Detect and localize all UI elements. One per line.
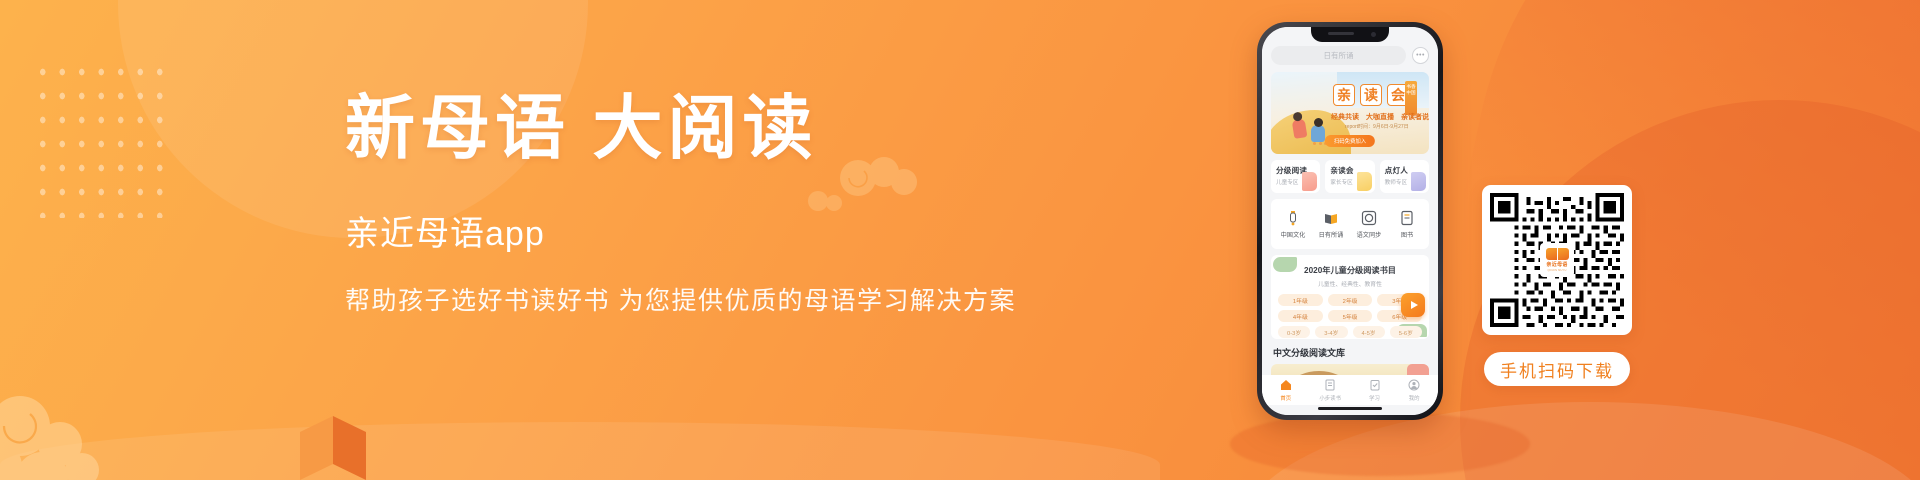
booklist-card[interactable]: 2020年儿童分级阅读书目 儿童性、经典性、教育性 1年级 2年级 3年级 4年… xyxy=(1271,255,1429,339)
circle-sync-icon xyxy=(1361,210,1377,226)
tab-label: 我的 xyxy=(1409,394,1420,402)
ellipsis-icon[interactable]: ••• xyxy=(1412,47,1429,64)
page-title: 新母语 大阅读 xyxy=(345,92,1045,168)
phone-mockup: 日有所诵 ••• 亲 读 会 书香中国 经典共读 xyxy=(1257,22,1443,420)
search-row: 日有所诵 ••• xyxy=(1271,46,1429,65)
tab-mine[interactable]: 我的 xyxy=(1408,379,1420,402)
quick-entry-chinese-culture[interactable]: 中国文化 xyxy=(1275,210,1311,239)
hero-title-char: 读 xyxy=(1360,84,1382,106)
decor-cloud-swirl-icon xyxy=(0,392,118,480)
quick-entry-label: 语文同步 xyxy=(1357,230,1382,239)
qr-center-logo: 亲近母语 QINJIN MUYU xyxy=(1540,243,1574,277)
qr-download-block: 亲近母语 QINJIN MUYU 手机扫码下载 xyxy=(1482,185,1632,386)
qr-code-card[interactable]: 亲近母语 QINJIN MUYU xyxy=(1482,185,1632,335)
logo-book-shape xyxy=(1546,248,1569,260)
decor-hill-left xyxy=(0,422,1160,480)
tab-study[interactable]: 学习 xyxy=(1369,379,1381,402)
hero-title-char: 亲 xyxy=(1333,84,1355,106)
copy-block: 新母语 大阅读 亲近母语app 帮助孩子选好书读好书 为您提供优质的母语学习解决… xyxy=(345,92,1045,317)
quick-entry-label: 日有所诵 xyxy=(1319,230,1344,239)
download-button[interactable]: 手机扫码下载 xyxy=(1484,352,1630,386)
tab-home[interactable]: 首页 xyxy=(1280,379,1292,402)
grade-tag[interactable]: 1年级 xyxy=(1278,294,1323,306)
age-tag[interactable]: 3-4岁 xyxy=(1315,326,1347,338)
zone-card-list: 分级阅读 儿童专区 亲读会 家长专区 点灯人 教师专区 xyxy=(1271,160,1429,193)
quick-entry-textbook-sync[interactable]: 语文同步 xyxy=(1351,210,1387,239)
hero-subtitle-items: 经典共读 大咖直播 亲读者说 xyxy=(1331,112,1429,122)
zone-card-teacher[interactable]: 点灯人 教师专区 xyxy=(1380,160,1429,193)
lantern-icon xyxy=(1285,210,1301,226)
tab-label: 学习 xyxy=(1369,394,1380,402)
book-ribbon-icon xyxy=(1302,172,1317,191)
phone-tabbar: 首页 小步读书 xyxy=(1262,375,1438,405)
decor-cube-icon xyxy=(300,416,366,480)
hero-title: 亲 读 会 xyxy=(1333,84,1409,106)
book-icon xyxy=(1399,210,1415,226)
hero-subtitle-item: 经典共读 xyxy=(1331,112,1359,122)
person-icon xyxy=(1411,172,1426,191)
hero-banner-card[interactable]: 亲 读 会 书香中国 经典共读 大咖直播 亲读者说 report时间：9月6日-… xyxy=(1271,72,1429,154)
note-icon xyxy=(1357,172,1372,191)
home-indicator xyxy=(1318,407,1382,411)
age-row: 0-3岁 3-4岁 4-5岁 5-6岁 xyxy=(1278,326,1422,338)
hero-cta-button[interactable]: 扫码免费加入 xyxy=(1325,135,1375,147)
search-input[interactable]: 日有所诵 xyxy=(1271,46,1406,65)
hero-subtitle-item: 大咖直播 xyxy=(1366,112,1394,122)
checklist-icon xyxy=(1369,379,1381,391)
phone-notch xyxy=(1311,27,1389,42)
list-icon xyxy=(1324,379,1336,391)
quick-entry-books[interactable]: 图书 xyxy=(1389,210,1425,239)
tab-reading[interactable]: 小步读书 xyxy=(1319,379,1341,402)
hero-date-line: report时间：9月6日-9月27日 xyxy=(1345,123,1409,130)
quick-entry-daily-recite[interactable]: 日有所诵 xyxy=(1313,210,1349,239)
grade-tag[interactable]: 5年级 xyxy=(1328,310,1373,322)
library-section-title: 中文分级阅读文库 xyxy=(1271,346,1429,359)
booklist-subtitle: 儿童性、经典性、教育性 xyxy=(1271,279,1429,288)
logo-text: 亲近母语 xyxy=(1546,261,1567,268)
hero-child-blue-icon xyxy=(1311,125,1325,142)
open-book-icon xyxy=(1323,210,1339,226)
age-tag[interactable]: 5-6岁 xyxy=(1390,326,1422,338)
decor-wedge-right xyxy=(1391,0,1920,480)
zone-card-parent-club[interactable]: 亲读会 家长专区 xyxy=(1325,160,1374,193)
play-video-icon[interactable] xyxy=(1401,293,1425,317)
tab-label: 小步读书 xyxy=(1319,394,1341,402)
home-icon xyxy=(1280,379,1292,391)
app-name: 亲近母语app xyxy=(345,206,1045,255)
zone-card-graded-reading[interactable]: 分级阅读 儿童专区 xyxy=(1271,160,1320,193)
phone-screen: 日有所诵 ••• 亲 读 会 书香中国 经典共读 xyxy=(1262,27,1438,415)
page-tagline: 帮助孩子选好书读好书 为您提供优质的母语学习解决方案 xyxy=(345,281,1045,317)
user-icon xyxy=(1408,379,1420,391)
booklist-tag-grid: 1年级 2年级 3年级 4年级 5年级 6年级 0-3岁 3-4岁 4- xyxy=(1271,294,1429,338)
quick-entry-label: 中国文化 xyxy=(1281,230,1306,239)
quick-entry-label: 图书 xyxy=(1401,230,1413,239)
grade-tag[interactable]: 2年级 xyxy=(1328,294,1373,306)
decor-dot-grid xyxy=(33,60,175,218)
hero-subtitle-item: 亲读者说 xyxy=(1401,112,1429,122)
leaf-decor-icon xyxy=(1273,257,1297,272)
tab-label: 首页 xyxy=(1280,394,1291,402)
grade-tag[interactable]: 4年级 xyxy=(1278,310,1323,322)
logo-subtext: QINJIN MUYU xyxy=(1547,269,1566,272)
age-tag[interactable]: 4-5岁 xyxy=(1353,326,1385,338)
decor-phone-shadow xyxy=(1230,412,1530,476)
age-tag[interactable]: 0-3岁 xyxy=(1278,326,1310,338)
promo-banner: 新母语 大阅读 亲近母语app 帮助孩子选好书读好书 为您提供优质的母语学习解决… xyxy=(0,0,1920,480)
quick-entry-row: 中国文化 日有所诵 xyxy=(1271,199,1429,249)
hero-flag-label: 书香中国 xyxy=(1405,81,1417,115)
